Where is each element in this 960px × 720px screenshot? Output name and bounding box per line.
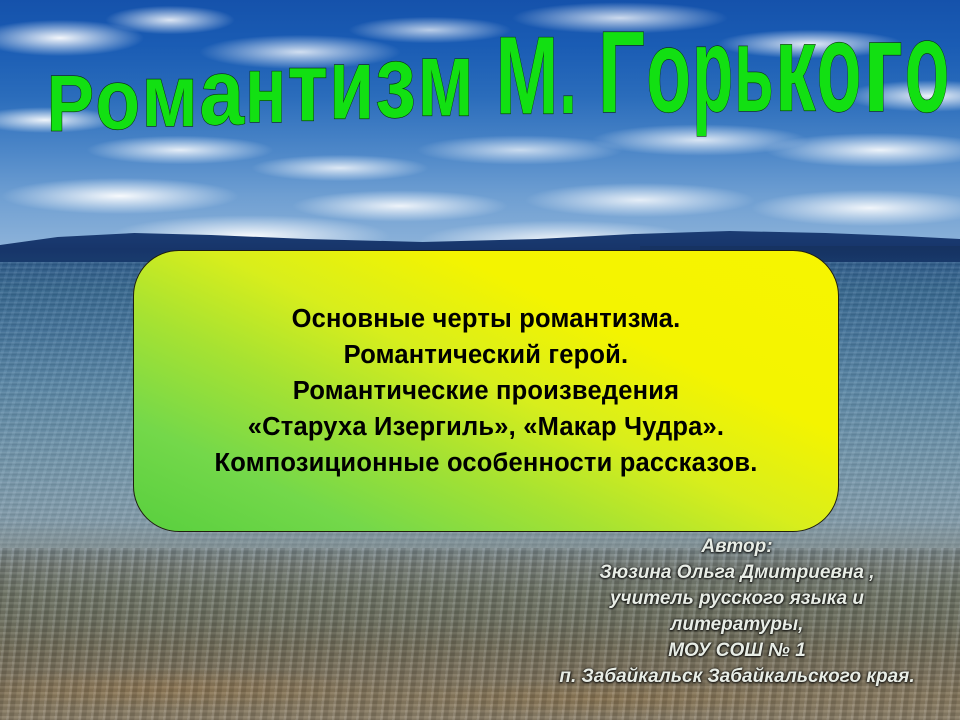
content-line: Романтический герой.	[344, 337, 629, 373]
author-credit-block: Автор: Зюзина Ольга Дмитриевна , учитель…	[522, 534, 952, 690]
content-callout-box: Основные черты романтизма. Романтический…	[133, 250, 839, 532]
content-line: Романтические произведения	[293, 373, 679, 409]
presentation-slide: РомантизмМ.Горького Основные черты роман…	[0, 0, 960, 720]
content-line: Композиционные особенности рассказов.	[215, 445, 758, 481]
wordart-letter: т	[287, 31, 328, 141]
wordart-letter: о	[817, 0, 862, 138]
content-line: Основные черты романтизма.	[292, 301, 681, 337]
wordart-title: РомантизмМ.Горького	[0, 0, 960, 150]
author-line: п. Забайкальск Забайкальского края.	[522, 664, 952, 690]
wordart-letter: ь	[734, 0, 773, 137]
wordart-letter: Р	[47, 59, 94, 148]
wordart-letter: м	[142, 46, 198, 145]
author-line: учитель русского языка и	[522, 586, 952, 612]
wordart-letter: к	[775, 0, 816, 138]
author-line: МОУ СОШ № 1	[522, 638, 952, 664]
author-line: литературы,	[522, 612, 952, 638]
wordart-letter: о	[905, 0, 950, 139]
wordart-letter: о	[646, 5, 691, 137]
wordart-letter: Г	[598, 7, 645, 137]
wordart-letter: р	[692, 2, 733, 137]
content-line: «Старуха Изергиль», «Макар Чудра».	[248, 409, 724, 445]
author-line: Зюзина Ольга Дмитриевна ,	[522, 560, 952, 586]
author-line: Автор:	[522, 534, 952, 560]
wordart-letter-group: РомантизмМ.Горького	[47, 0, 950, 148]
wordart-letter: з	[375, 23, 416, 139]
wordart-letter: н	[245, 37, 286, 143]
wordart-title-svg: РомантизмМ.Горького	[0, 0, 960, 150]
wordart-letter: и	[329, 29, 374, 141]
wordart-letter: м	[417, 20, 473, 139]
wordart-letter: а	[200, 40, 245, 144]
wordart-letter: о	[95, 53, 140, 147]
wordart-letter: г	[863, 0, 904, 139]
wordart-letter: М	[496, 15, 558, 138]
wordart-letter: .	[559, 11, 576, 137]
